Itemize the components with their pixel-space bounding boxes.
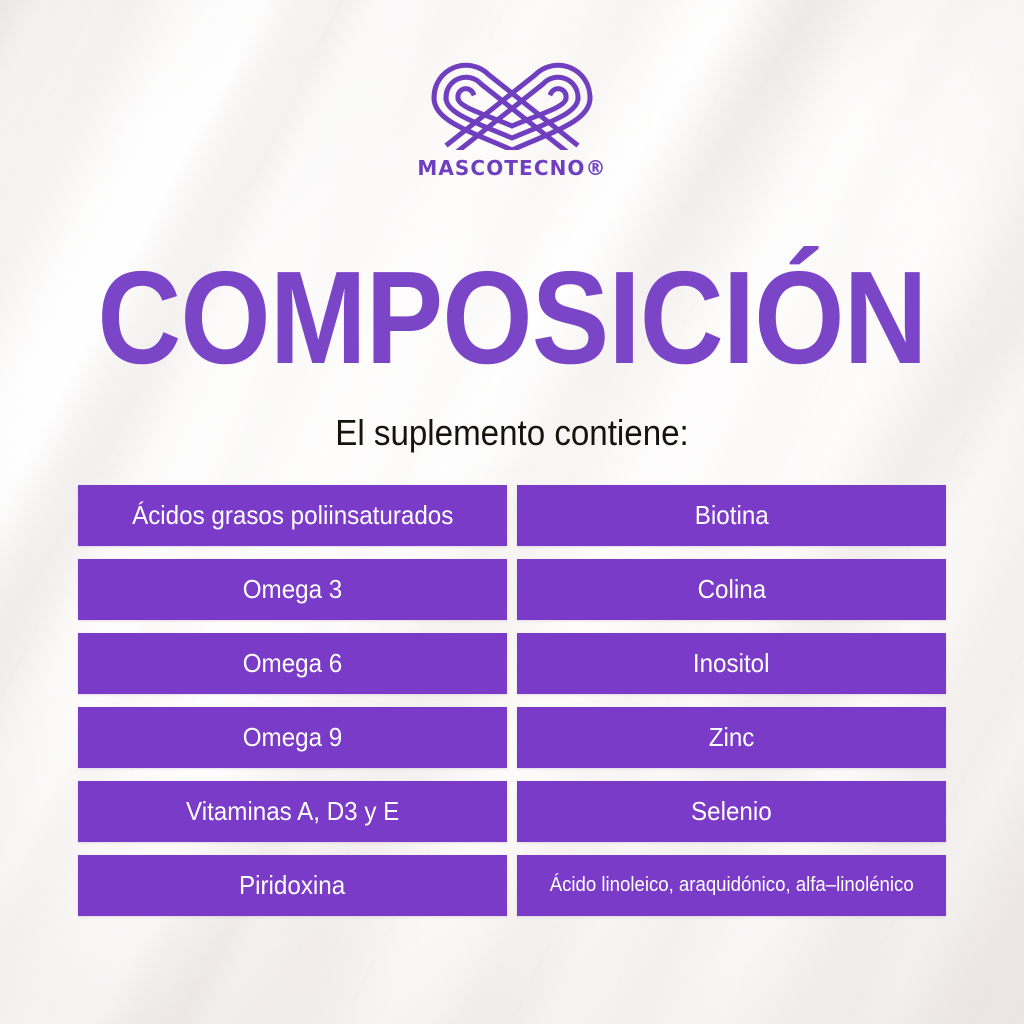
ingredient-label: Vitaminas A, D3 y E [186, 797, 399, 827]
ingredient-row[interactable]: Inositol [517, 633, 946, 694]
ingredient-label: Ácidos grasos poliinsaturados [132, 501, 453, 531]
ingredient-row[interactable]: Piridoxina [78, 855, 507, 916]
heart-infinity-knot-icon [426, 58, 598, 150]
ingredient-row[interactable]: Omega 9 [78, 707, 507, 768]
ingredient-label: Colina [697, 575, 766, 605]
ingredient-row[interactable]: Omega 6 [78, 633, 507, 694]
subtitle: El suplemento contiene: [41, 413, 983, 453]
ingredient-label: Zinc [709, 723, 755, 753]
ingredient-label: Omega 3 [243, 575, 342, 605]
ingredient-row[interactable]: Biotina [517, 485, 946, 546]
ingredient-label: Piridoxina [239, 871, 345, 901]
ingredient-row[interactable]: Ácido linoleico, araquidónico, alfa–lino… [517, 855, 946, 916]
ingredient-row[interactable]: Vitaminas A, D3 y E [78, 781, 507, 842]
composition-poster: MASCOTECNO® COMPOSICIÓN El suplemento co… [0, 0, 1024, 1024]
ingredient-label: Biotina [695, 501, 769, 531]
ingredient-label: Inositol [693, 649, 770, 679]
brand-wordmark: MASCOTECNO® [417, 158, 606, 178]
ingredient-label: Omega 9 [243, 723, 342, 753]
ingredient-row[interactable]: Ácidos grasos poliinsaturados [78, 485, 507, 546]
ingredient-label: Omega 6 [243, 649, 342, 679]
ingredient-row[interactable]: Omega 3 [78, 559, 507, 620]
ingredient-row[interactable]: Colina [517, 559, 946, 620]
ingredient-row[interactable]: Selenio [517, 781, 946, 842]
ingredient-row[interactable]: Zinc [517, 707, 946, 768]
page-title: COMPOSICIÓN [61, 252, 962, 384]
ingredient-label: Selenio [691, 797, 772, 827]
ingredient-label: Ácido linoleico, araquidónico, alfa–lino… [550, 874, 914, 897]
brand-logo: MASCOTECNO® [0, 58, 1024, 178]
composition-grid: Ácidos grasos poliinsaturadosBiotinaOmeg… [78, 485, 946, 916]
